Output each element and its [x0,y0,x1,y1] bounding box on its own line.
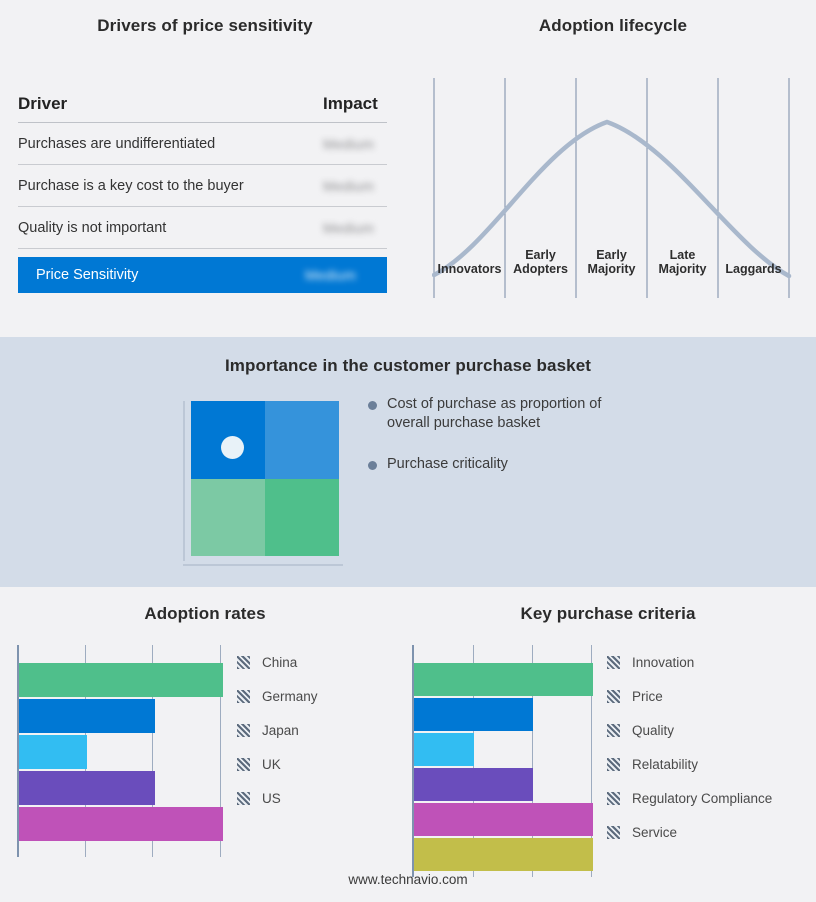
importance-panel: Importance in the customer purchase bask… [0,337,816,587]
bar-row-price[interactable] [414,698,593,731]
hatch-swatch-icon [607,656,620,669]
bar-service[interactable] [414,838,593,871]
bar-row-relatability[interactable] [414,768,593,801]
key-purchase-criteria-title: Key purchase criteria [400,604,816,624]
position-marker-dot [221,436,244,459]
bar-row-germany[interactable] [19,699,223,733]
impact-value-redacted: Medium [323,136,387,152]
bar-row-japan[interactable] [19,735,223,769]
legend-item-service[interactable]: Service [607,825,772,840]
legend-label: Relatability [632,757,698,772]
purchase-basket-matrix [183,401,343,566]
legend-label-cost-of-purchase: Cost of purchase as proportion of overal… [387,395,645,433]
importance-legend: Cost of purchase as proportion of overal… [368,395,668,496]
adoption-rates-panel: Adoption rates China Germany [0,587,410,902]
column-header-impact: Impact [323,94,387,114]
adoption-rates-chart [17,645,223,857]
hatch-swatch-icon [237,724,250,737]
legend-item-relatability[interactable]: Relatability [607,757,772,772]
stage-label-early-majority: Early Majority [576,248,647,276]
table-row[interactable]: Purchases are undifferentiated Medium [18,123,387,165]
hatch-swatch-icon [237,792,250,805]
legend-label: Japan [262,723,299,738]
price-sensitivity-summary-row[interactable]: Price Sensitivity Medium [18,257,387,293]
legend-label: Regulatory Compliance [632,791,772,806]
legend-label: China [262,655,297,670]
legend-item-china[interactable]: China [237,655,318,670]
bar-regulatory-compliance[interactable] [414,803,593,836]
bar-row-uk[interactable] [19,771,223,805]
stage-label-innovators: Innovators [434,262,505,276]
drivers-panel: Drivers of price sensitivity Driver Impa… [0,0,410,337]
hatch-swatch-icon [607,690,620,703]
legend-item-germany[interactable]: Germany [237,689,318,704]
stage-label-laggards: Laggards [718,262,789,276]
importance-title: Importance in the customer purchase bask… [0,356,816,376]
column-header-driver: Driver [18,94,67,114]
legend-item-innovation[interactable]: Innovation [607,655,772,670]
bar-uk[interactable] [19,771,155,805]
legend-label: US [262,791,281,806]
bar-price[interactable] [414,698,533,731]
footer-url: www.technavio.com [0,872,816,887]
drivers-table-header: Driver Impact [18,86,387,123]
stage-label-late-majority: Late Majority [647,248,718,276]
table-row[interactable]: Purchase is a key cost to the buyer Medi… [18,165,387,207]
legend-item-price[interactable]: Price [607,689,772,704]
stage-label-early-adopters: Early Adopters [505,248,576,276]
drivers-title: Drivers of price sensitivity [0,16,410,36]
key-purchase-criteria-legend: Innovation Price Quality Relatability Re… [607,655,772,840]
legend-label-purchase-criticality: Purchase criticality [387,455,508,474]
impact-value-redacted: Medium [323,220,387,236]
drivers-table: Driver Impact Purchases are undifferenti… [18,86,387,293]
bar-row-innovation[interactable] [414,663,593,696]
quadrant-bottom-left[interactable] [191,479,265,557]
adoption-rates-title: Adoption rates [0,604,410,624]
matrix-y-axis [183,401,185,561]
legend-label: Innovation [632,655,694,670]
legend-item-quality[interactable]: Quality [607,723,772,738]
driver-label: Purchases are undifferentiated [18,136,215,152]
matrix-x-axis [183,564,343,566]
driver-label: Quality is not important [18,220,166,236]
bar-germany[interactable] [19,699,155,733]
hatch-swatch-icon [237,656,250,669]
legend-item-japan[interactable]: Japan [237,723,318,738]
hatch-swatch-icon [607,792,620,805]
legend-item-us[interactable]: US [237,791,318,806]
bar-japan[interactable] [19,735,87,769]
list-item: Purchase criticality [368,455,668,474]
quadrant-bottom-right[interactable] [265,479,339,557]
adoption-lifecycle-chart: Innovators Early Adopters Early Majority… [432,70,792,305]
hatch-swatch-icon [237,690,250,703]
hatch-swatch-icon [237,758,250,771]
bar-row-service[interactable] [414,838,593,871]
hatch-swatch-icon [607,758,620,771]
legend-item-regulatory-compliance[interactable]: Regulatory Compliance [607,791,772,806]
bar-relatability[interactable] [414,768,533,801]
price-sensitivity-label: Price Sensitivity [36,267,138,283]
hatch-swatch-icon [607,724,620,737]
legend-label: Germany [262,689,318,704]
quadrant-top-right[interactable] [265,401,339,479]
bullet-icon [368,461,377,470]
bar-row-china[interactable] [19,663,223,697]
key-purchase-criteria-panel: Key purchase criteria Innovation [400,587,816,902]
bar-us[interactable] [19,807,223,841]
legend-label: UK [262,757,281,772]
adoption-lifecycle-title: Adoption lifecycle [410,16,816,36]
bar-innovation[interactable] [414,663,593,696]
legend-label: Price [632,689,663,704]
bullet-icon [368,401,377,410]
driver-label: Purchase is a key cost to the buyer [18,178,244,194]
bar-row-regulatory-compliance[interactable] [414,803,593,836]
bar-row-quality[interactable] [414,733,593,766]
adoption-lifecycle-panel: Adoption lifecycle Innovators Early Adop… [410,0,816,337]
adoption-rates-legend: China Germany Japan UK US [237,655,318,806]
matrix-quadrants [191,401,339,556]
table-row[interactable]: Quality is not important Medium [18,207,387,249]
legend-label: Quality [632,723,674,738]
list-item: Cost of purchase as proportion of overal… [368,395,668,433]
bar-row-us[interactable] [19,807,223,841]
price-sensitivity-impact-redacted: Medium [305,267,369,283]
bar-quality[interactable] [414,733,474,766]
legend-item-uk[interactable]: UK [237,757,318,772]
hatch-swatch-icon [607,826,620,839]
key-purchase-criteria-chart [412,645,593,877]
legend-label: Service [632,825,677,840]
impact-value-redacted: Medium [323,178,387,194]
bar-china[interactable] [19,663,223,697]
